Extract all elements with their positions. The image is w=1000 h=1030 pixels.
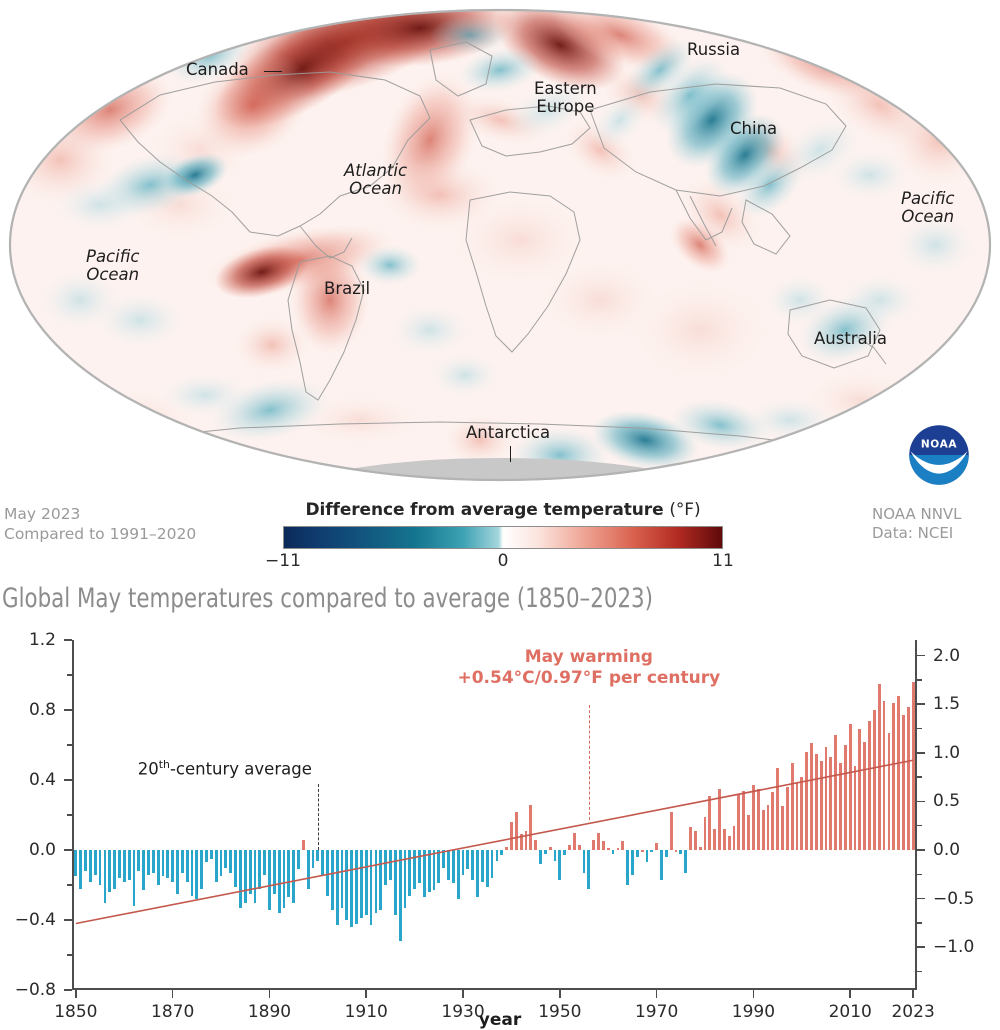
caption-period: May 2023 [4,505,254,525]
svg-text:NOAA: NOAA [921,439,957,451]
y-tick-left-4 [64,709,72,711]
y-minortick-right [917,874,922,875]
y-tick-left-0 [64,989,72,991]
credit-block: NOAA NNVL Data: NCEI [872,505,1000,543]
warming-pointer [589,705,590,821]
x-ticklabel-7: 1990 [732,1002,775,1022]
colorbar-ticks: −11011 [283,551,723,575]
x-ticklabel-9: 2023 [891,1002,934,1022]
century-average-rest: -century average [170,759,312,778]
y-minortick-left [67,674,72,675]
chart-title: Global May temperatures compared to aver… [2,583,653,614]
y-ticklabel-left-3: 0.4 [29,770,56,790]
map-label-china: China [730,120,777,138]
y-minortick-left [67,814,72,815]
map-label-australia: Australia [814,330,887,348]
y-minortick-left [67,954,72,955]
colorbar-tick-0: −11 [265,551,301,571]
y-minortick-left [67,884,72,885]
y-ticklabel-right-6: 2.0 [933,646,960,666]
map-label-russia: Russia [687,41,740,59]
colorbar-gradient [283,526,723,549]
map-caption: May 2023 Compared to 1991–2020 [4,505,254,545]
x-ticklabel-3: 1910 [345,1002,388,1022]
y-minortick-right [917,679,922,680]
x-tick-9 [912,990,914,998]
y-tick-left-1 [64,919,72,921]
colorbar-tick-1: 0 [498,551,509,571]
colorbar-tick-2: 11 [712,551,734,571]
y-minortick-right [917,922,922,923]
x-tick-4 [462,990,464,998]
y-ticklabel-right-3: 0.5 [933,791,960,811]
y-minortick-right [917,825,922,826]
timeseries-chart: 20th-century average May warming +0.54°C… [0,618,1000,1029]
y-ticklabel-left-0: −0.8 [15,980,56,1000]
y-tick-left-3 [64,779,72,781]
map-label-canada: Canada [186,61,249,79]
y-ticklabel-left-1: −0.4 [15,910,56,930]
y-tick-left-2 [64,849,72,851]
x-tick-3 [365,990,367,998]
map-label-eastern-europe: EasternEurope [534,80,597,117]
y-tick-right-1 [917,898,925,900]
x-ticklabel-2: 1890 [248,1002,291,1022]
map-label-pacific-ocean-west: PacificOcean [86,248,139,285]
y-ticklabel-right-4: 1.0 [933,743,960,763]
y-minortick-right [917,776,922,777]
global-anomaly-map: CanadaEasternEuropeRussiaChinaAtlanticOc… [0,0,1000,500]
legend-title: Difference from average temperature (°F) [253,500,753,520]
warming-line1: May warming [457,647,720,667]
warming-annotation: May warming +0.54°C/0.97°F per century [457,647,720,688]
x-ticklabel-5: 1950 [538,1002,581,1022]
x-axis-label: year [479,1010,521,1030]
y-minortick-left [67,744,72,745]
colorbar-wrap: −11011 [253,526,753,575]
y-tick-right-3 [917,801,925,803]
y-tick-right-2 [917,849,925,851]
map-label-atlantic-ocean: AtlanticOcean [344,162,407,199]
y-tick-right-6 [917,655,925,657]
legend-title-text: Difference from average temperature [305,500,663,520]
x-tick-2 [269,990,271,998]
colorbar-legend: Difference from average temperature (°F)… [253,500,753,575]
x-ticklabel-1: 1870 [151,1002,194,1022]
y-tick-right-5 [917,703,925,705]
map-label-pacific-ocean-east: PacificOcean [901,190,954,227]
y-ticklabel-right-0: −1.0 [933,937,974,957]
y-ticklabel-left-2: 0.0 [29,840,56,860]
x-tick-6 [656,990,658,998]
century-average-pointer [318,784,319,851]
x-tick-8 [849,990,851,998]
x-tick-0 [75,990,77,998]
y-ticklabel-right-1: −0.5 [933,889,974,909]
map-label-brazil: Brazil [324,280,370,298]
credit-org: NOAA NNVL [872,505,1000,524]
map-leader-antarctica [510,446,511,462]
trend-line [72,640,917,990]
noaa-logo-icon: NOAA [908,424,970,486]
map-leader-canada [264,71,282,72]
x-ticklabel-0: 1850 [54,1002,97,1022]
x-tick-1 [172,990,174,998]
y-tick-right-0 [917,946,925,948]
y-ticklabel-right-5: 1.5 [933,694,960,714]
y-ticklabel-right-2: 0.0 [933,840,960,860]
x-tick-5 [559,990,561,998]
y-tick-right-4 [917,752,925,754]
century-average-base: 20 [138,759,159,778]
y-ticklabel-left-5: 1.2 [29,630,56,650]
legend-unit: (°F) [669,500,700,520]
y-ticklabel-left-4: 0.8 [29,700,56,720]
x-tick-7 [753,990,755,998]
century-average-superscript: th [159,758,170,771]
x-ticklabel-6: 1970 [635,1002,678,1022]
credit-data: Data: NCEI [872,524,1000,543]
plot-area: 20th-century average May warming +0.54°C… [72,640,917,990]
y-tick-left-5 [64,639,72,641]
century-average-annotation: 20th-century average [138,758,312,779]
caption-baseline: Compared to 1991–2020 [4,525,254,545]
x-ticklabel-8: 2010 [829,1002,872,1022]
y-minortick-right [917,971,922,972]
map-label-antarctica: Antarctica [466,424,550,442]
warming-line2: +0.54°C/0.97°F per century [457,668,720,688]
y-minortick-right [917,728,922,729]
